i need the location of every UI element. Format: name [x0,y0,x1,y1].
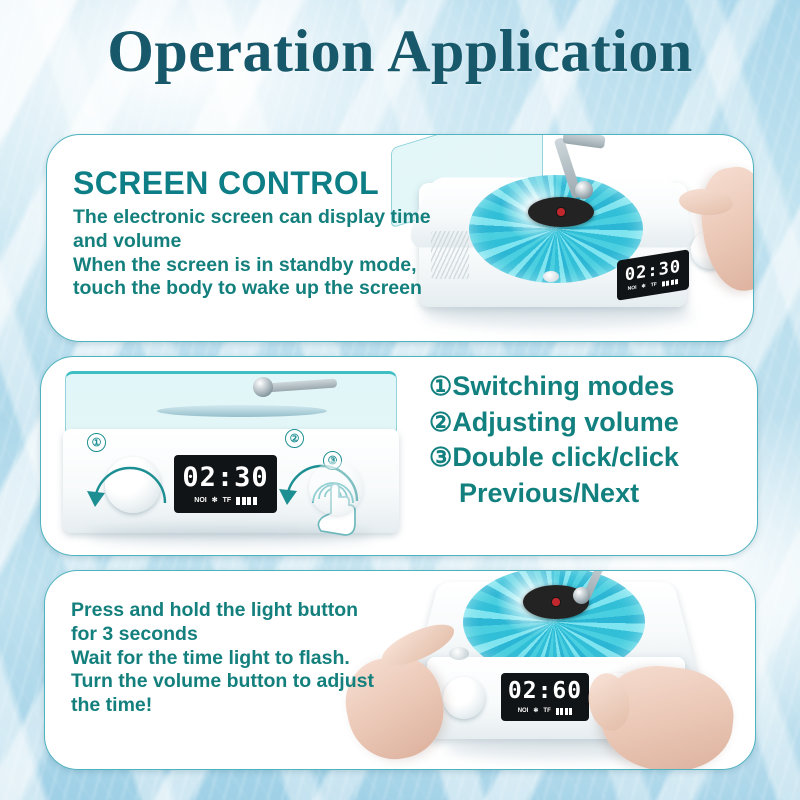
touch-button[interactable] [309,461,363,515]
platter-edge [157,405,327,417]
list-item-2-text: Adjusting volume [452,407,679,437]
led-display-panel2: 02:30 NOI ✻ TF [174,455,277,513]
hand [695,163,754,296]
battery-bars [236,497,257,505]
panel3-line-1: Press and hold the light button [71,599,374,623]
speaker-grille [431,231,469,279]
battery-bars [662,278,679,286]
list-item-3-text: Double click/click [452,442,679,472]
panel3-line-3: Wait for the time light to flash. [71,647,374,671]
bluetooth-icon: ✻ [533,708,538,714]
tonearm-head [573,587,590,604]
list-item-3: ③Double click/click [429,440,679,476]
infographic-canvas: Operation Application 02:30 NOI ✻ [0,0,800,800]
panel-time-setting: 02:60 NOI ✻ TF Press and hold [44,570,756,770]
list-item-3-continuation: Previous/Next [429,476,679,512]
led-time: 02:30 [182,464,268,491]
marker-1: ① [87,433,106,452]
marker-3-label: ③ [429,442,452,472]
mode-knob[interactable] [105,457,161,513]
tonearm-base [562,134,605,149]
led-indicator-tf: TF [543,708,550,714]
bluetooth-icon: ✻ [642,284,646,290]
led-display-panel3: 02:60 NOI ✻ TF [501,673,589,721]
panel3-line-2: for 3 seconds [71,623,374,647]
panel1-line-2: and volume [73,230,431,254]
led-time: 02:60 [508,680,582,703]
panel-controls: 02:30 NOI ✻ TF ① [40,356,758,556]
marker-1-label: ① [429,371,452,401]
device-photo-panel3: 02:60 NOI ✻ TF [405,570,755,770]
device-lid-closed [65,371,397,437]
led-indicator-noi: NOI [194,497,206,504]
panel-screen-control: 02:30 NOI ✻ TF SCREEN CONTROL The electr… [46,134,754,342]
led-indicator-noi: NOI [628,285,637,291]
panel1-line-4: touch the body to wake up the screen [73,277,431,301]
marker-2-label: ② [429,407,452,437]
page-title: Operation Application [0,20,800,83]
tonearm-head [253,377,273,397]
mode-knob[interactable] [443,677,485,719]
led-indicator-tf: TF [651,282,657,288]
vinyl-record [528,197,594,227]
list-item-1-text: Switching modes [452,371,674,401]
list-item-2: ②Adjusting volume [429,405,679,441]
marker-2: ② [285,429,304,448]
device-photo-panel2: 02:30 NOI ✻ TF ① [57,363,415,549]
device-photo-panel1: 02:30 NOI ✻ TF [403,134,754,342]
list-item-1: ①Switching modes [429,369,679,405]
panel1-line-1: The electronic screen can display time [73,206,431,230]
light-button[interactable] [449,647,469,660]
panel1-heading: SCREEN CONTROL [73,167,431,199]
panel3-line-5: the time! [71,694,374,718]
function-button[interactable] [543,271,559,282]
led-indicator-tf: TF [223,497,232,504]
battery-bars [556,708,573,715]
panel3-line-4: Turn the volume button to adjust [71,670,374,694]
panel1-line-3: When the screen is in standby mode, [73,254,431,278]
panel1-text: SCREEN CONTROL The electronic screen can… [73,167,431,301]
panel2-list: ①Switching modes ②Adjusting volume ③Doub… [429,369,679,512]
panel3-text: Press and hold the light button for 3 se… [71,599,374,718]
bluetooth-icon: ✻ [212,497,218,504]
tonearm-head [575,181,593,199]
led-indicator-noi: NOI [518,708,529,714]
